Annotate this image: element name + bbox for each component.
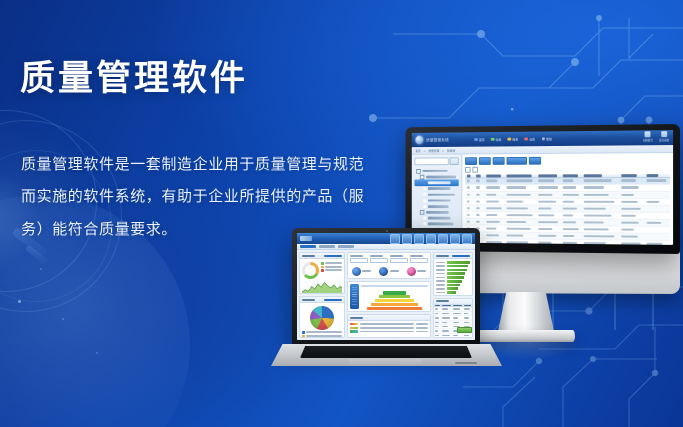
quality-level-card	[347, 281, 431, 312]
breadcrumb-separator: >	[423, 148, 425, 152]
table-cell	[505, 207, 537, 209]
toolbar-button[interactable]	[479, 157, 491, 165]
filter-input[interactable]	[350, 258, 368, 263]
kpi-label	[362, 270, 371, 272]
table-toolbar[interactable]	[465, 156, 670, 165]
promo-banner: 质量管理软件 质量管理软件是一套制造企业用于质量管理与规范而实施的软件系统，有助…	[0, 0, 683, 427]
bar-row	[436, 295, 470, 296]
table-cell	[485, 180, 505, 182]
table-cell	[619, 215, 644, 217]
card-title	[350, 317, 363, 319]
ranking-card	[433, 252, 473, 296]
column-header[interactable]	[582, 174, 619, 177]
search-icon[interactable]	[450, 157, 459, 165]
legend-swatch	[302, 331, 305, 334]
tree-item-label	[427, 205, 448, 208]
laptop-keyboard	[300, 346, 472, 358]
menu-icon	[542, 137, 545, 140]
bar-row	[436, 269, 470, 272]
legend-label	[306, 335, 343, 337]
area-chart-svg	[302, 280, 342, 294]
table-cell	[485, 228, 505, 230]
table-cell	[452, 322, 463, 324]
sidebar-search[interactable]	[414, 157, 458, 165]
checkbox[interactable]	[472, 167, 478, 173]
filter-row[interactable]	[348, 253, 430, 265]
table-cell	[463, 335, 472, 337]
app-header-bar: 质量管理系统 首页 检验 报表 设置 帮助 切换账号	[412, 130, 673, 147]
table-cell	[475, 207, 485, 209]
card-action[interactable]	[324, 299, 342, 301]
laptop-hinge-notch	[455, 362, 477, 364]
toolbar-button[interactable]	[493, 157, 505, 165]
kpi-checked[interactable]	[379, 267, 399, 276]
list-item-label	[360, 327, 414, 329]
filter-label	[350, 255, 363, 257]
kpi-icon	[352, 267, 361, 276]
dashboard-right-column	[433, 252, 473, 338]
quality-pyramid-chart	[361, 290, 428, 312]
breadcrumb-item[interactable]: 质量管理	[428, 148, 439, 152]
legend-item	[321, 269, 342, 272]
menu-label: 首页	[479, 137, 485, 142]
tree-item-label	[426, 211, 449, 214]
table-cell	[434, 326, 441, 328]
table-cell	[645, 201, 670, 203]
legend-swatch	[321, 262, 324, 265]
table-cell	[537, 193, 561, 195]
table-cell	[645, 186, 670, 188]
bar-row	[436, 280, 470, 283]
table-cell	[434, 335, 441, 337]
list-item[interactable]	[350, 323, 428, 325]
dashboard-logo-icon	[300, 236, 312, 241]
list-item[interactable]	[350, 327, 428, 329]
filter-input[interactable]	[390, 258, 408, 263]
legend-swatch	[321, 269, 324, 272]
main-content	[462, 153, 673, 245]
bar	[447, 276, 464, 279]
tree-expander-icon	[423, 193, 426, 196]
column-header	[442, 305, 451, 307]
table-cell	[537, 228, 561, 230]
bar-row	[436, 261, 470, 264]
breadcrumb-item: 检验单	[447, 148, 455, 152]
column-header[interactable]	[505, 174, 537, 177]
table-cell	[475, 221, 485, 223]
tree-item-label	[422, 170, 447, 173]
menu-icon	[508, 137, 511, 140]
menu-label: 帮助	[546, 136, 552, 141]
table-cell	[465, 180, 475, 182]
list-item-label	[360, 331, 414, 333]
menu-item[interactable]: 首页	[474, 137, 484, 142]
pyramid-column	[361, 284, 428, 309]
table-cell	[561, 193, 582, 195]
bar	[447, 295, 454, 296]
kpi-icon	[379, 267, 388, 276]
dashboard-left-column	[299, 252, 345, 338]
tree-item-label	[427, 217, 450, 220]
column-header[interactable]	[465, 175, 475, 177]
bar	[447, 291, 456, 294]
table-cell	[465, 207, 475, 209]
table-cell	[645, 208, 670, 210]
tree-expander-icon	[423, 205, 426, 208]
supplier-bar-chart	[434, 259, 472, 296]
list-item-value	[416, 331, 428, 333]
bar-row	[436, 291, 470, 294]
legend-label	[325, 262, 343, 264]
table-cell	[505, 200, 537, 202]
table-cell	[475, 193, 485, 195]
card-title	[436, 255, 449, 257]
table-cell	[619, 236, 644, 239]
dashboard-toolbar[interactable]	[390, 234, 472, 244]
print-icon[interactable]	[438, 234, 448, 244]
table-cell	[537, 187, 561, 189]
laptop-screen	[297, 233, 475, 340]
dashboard-middle-column	[347, 252, 431, 338]
app-header-actions[interactable]: 切换账号 退出系统	[643, 131, 669, 142]
table-cell	[485, 187, 505, 189]
decor-dot	[62, 318, 64, 320]
column-header[interactable]	[485, 174, 505, 176]
table-cell	[465, 214, 475, 216]
tree-item-label	[427, 187, 450, 189]
table-cell	[537, 235, 561, 237]
logout-label: 退出系统	[659, 138, 669, 142]
table-cell	[645, 222, 670, 224]
decor-dot	[18, 300, 21, 303]
bar	[447, 280, 462, 283]
table-cell	[619, 179, 644, 181]
tab-quality-board[interactable]	[319, 245, 335, 248]
pyramid-step	[383, 291, 406, 294]
decor-dot	[40, 268, 42, 270]
table-cell	[465, 193, 475, 195]
kpi-label	[417, 270, 426, 272]
filter-field[interactable]	[370, 255, 388, 263]
legend-label	[325, 266, 343, 268]
table-cell	[441, 330, 452, 332]
table-cell	[537, 200, 561, 202]
legend-item	[321, 266, 342, 269]
table-cell	[561, 187, 582, 189]
bar-label	[436, 269, 445, 271]
defect-pie-chart	[310, 306, 334, 330]
dashboard-header	[297, 233, 475, 244]
table-cell	[645, 215, 670, 217]
table-cell	[582, 187, 619, 189]
decor-dot	[96, 352, 98, 354]
app-menu[interactable]: 首页 检验 报表 设置 帮助	[474, 136, 552, 142]
card-title	[302, 255, 315, 257]
filter-input[interactable]	[410, 258, 428, 263]
tree-expander-icon	[423, 223, 426, 226]
tree-expander-icon	[423, 199, 426, 202]
legend-swatch	[302, 335, 305, 338]
logout-button[interactable]: 退出系统	[659, 131, 669, 142]
export-icon[interactable]	[450, 234, 460, 244]
bar	[447, 269, 467, 272]
bar-row	[436, 284, 470, 287]
tree-expander-icon[interactable]: -	[416, 169, 420, 174]
table-cell	[561, 207, 582, 209]
filter-card	[347, 252, 431, 279]
table-cell	[441, 308, 452, 310]
card-body	[300, 303, 344, 337]
pyramid-step	[371, 303, 418, 306]
table-cell	[452, 308, 463, 310]
pyramid-subheader	[361, 285, 428, 287]
bar	[447, 265, 469, 268]
pie-card	[299, 296, 345, 338]
list-item-value	[416, 323, 428, 325]
column-header[interactable]	[619, 174, 644, 177]
table-cell	[452, 335, 463, 337]
menu-label: 检验	[496, 137, 502, 142]
tree-item-label	[427, 193, 455, 196]
filter-field[interactable]	[350, 255, 368, 263]
table-cell	[485, 234, 505, 236]
table-cell	[619, 187, 644, 189]
table-cell	[582, 200, 619, 202]
table-cell	[441, 313, 452, 315]
gauge-legend	[321, 262, 342, 272]
table-cell	[475, 214, 485, 216]
level-scale-bar	[350, 284, 359, 309]
laptop-device	[292, 228, 480, 346]
tree-item-label	[426, 176, 456, 179]
table-cell	[463, 313, 472, 315]
table-cell	[582, 193, 619, 195]
laptop-trackpad[interactable]	[349, 359, 421, 365]
list-item-label	[360, 323, 414, 325]
nav-tree[interactable]: --+	[414, 168, 458, 227]
menu-label: 报表	[512, 137, 518, 142]
table-cell	[645, 179, 670, 181]
kpi-label	[390, 270, 399, 272]
bar	[447, 287, 458, 290]
checkbox-row[interactable]	[465, 166, 670, 173]
filter-label	[390, 255, 403, 257]
filter-icon[interactable]	[426, 234, 436, 244]
bar	[447, 261, 471, 264]
table-cell	[465, 221, 475, 223]
tree-expander-icon	[423, 217, 426, 220]
table-cell	[463, 317, 472, 319]
alert-list[interactable]	[348, 321, 430, 337]
legend-item	[302, 335, 342, 338]
tree-expander-icon[interactable]: +	[420, 210, 424, 215]
bar-row	[436, 272, 470, 275]
tab-home[interactable]	[300, 245, 316, 248]
search-icon[interactable]	[402, 234, 412, 244]
table-cell	[463, 308, 472, 310]
table-cell	[463, 322, 472, 324]
card-title	[302, 299, 315, 301]
switch-user-button[interactable]: 切换账号	[643, 131, 653, 142]
bar-label	[436, 262, 445, 264]
table-cell	[561, 200, 582, 202]
filter-field[interactable]	[390, 255, 408, 263]
tree-expander-icon[interactable]: -	[420, 175, 424, 180]
card-action[interactable]	[324, 255, 342, 257]
bar-label	[436, 284, 445, 286]
pyramid-step	[367, 307, 422, 310]
home-icon[interactable]	[390, 234, 400, 244]
table-cell	[537, 214, 561, 216]
menu-item[interactable]: 设置	[525, 136, 535, 141]
table-cell	[434, 330, 441, 332]
bar	[447, 284, 460, 287]
search-input[interactable]	[414, 157, 448, 165]
bar-label	[436, 288, 445, 290]
column-header[interactable]	[561, 174, 582, 177]
filter-field[interactable]	[410, 255, 428, 263]
table-cell	[485, 221, 505, 223]
toolbar-button[interactable]	[507, 157, 527, 165]
menu-item[interactable]: 帮助	[542, 136, 552, 141]
table-cell	[645, 229, 670, 231]
monitor-stand-foot	[478, 330, 575, 342]
legend-label	[306, 331, 343, 333]
column-header[interactable]	[475, 175, 485, 177]
table-cell	[434, 308, 441, 310]
webcam-icon	[386, 230, 388, 232]
table-cell	[434, 313, 441, 315]
toolbar-button[interactable]	[465, 157, 477, 165]
table-cell	[505, 221, 537, 223]
table-cell	[619, 194, 644, 196]
tree-item-label	[427, 199, 450, 202]
table-cell	[441, 317, 452, 319]
app-logo-icon	[415, 136, 423, 145]
app-title: 质量管理系统	[426, 137, 449, 143]
data-table	[465, 174, 670, 242]
table-cell	[505, 180, 537, 182]
dashboard-window	[297, 233, 475, 340]
legend-swatch	[321, 266, 324, 269]
settings-icon[interactable]	[462, 234, 472, 244]
toolbar-button[interactable]	[529, 157, 541, 165]
chart-icon[interactable]	[414, 234, 424, 244]
table-cell	[582, 228, 619, 231]
kpi-icon	[407, 267, 416, 276]
tree-expander-icon	[423, 187, 426, 190]
legend-item	[321, 262, 342, 265]
filter-input[interactable]	[370, 258, 388, 263]
bar-label	[436, 273, 445, 275]
table-cell	[645, 243, 670, 245]
card-action[interactable]	[452, 255, 470, 257]
filter-label	[410, 255, 423, 257]
menu-icon	[491, 138, 494, 141]
menu-item[interactable]: 检验	[491, 137, 501, 142]
legend-item	[302, 331, 342, 334]
filter-label	[370, 255, 383, 257]
table-cell	[619, 229, 644, 231]
card-title	[436, 300, 449, 302]
table-cell	[582, 235, 619, 238]
table-cell	[561, 235, 582, 237]
table-cell	[582, 221, 619, 223]
table-cell	[645, 194, 670, 196]
checkbox[interactable]	[465, 167, 470, 173]
column-header[interactable]	[645, 174, 670, 177]
column-header	[435, 305, 440, 307]
table-cell	[561, 180, 582, 182]
menu-icon	[474, 138, 477, 141]
column-header	[453, 305, 462, 307]
list-item-value	[416, 327, 428, 329]
bar	[447, 272, 466, 275]
menu-icon	[525, 137, 528, 140]
tree-item[interactable]	[414, 221, 458, 227]
list-item[interactable]	[350, 330, 428, 332]
menu-item[interactable]: 报表	[508, 137, 518, 142]
pyramid-step	[375, 299, 414, 302]
table-body[interactable]	[465, 178, 670, 245]
table-cell	[475, 180, 485, 182]
table-cell	[537, 180, 561, 182]
bar-row	[436, 265, 470, 268]
table-row[interactable]	[434, 334, 472, 338]
severity-indicator	[350, 323, 358, 325]
table-cell	[475, 187, 485, 189]
severity-indicator	[350, 330, 358, 332]
table-cell	[505, 228, 537, 230]
table-cell	[582, 207, 619, 209]
kpi-row	[348, 265, 430, 278]
tab-analysis[interactable]	[338, 245, 354, 248]
table-cell	[645, 236, 670, 239]
table-cell	[561, 221, 582, 223]
table-cell	[475, 200, 485, 202]
table-cell	[537, 207, 561, 209]
bar-row	[436, 287, 470, 290]
table-cell	[434, 317, 441, 319]
card-body	[300, 259, 344, 293]
bar-label	[436, 265, 445, 267]
breadcrumb-item[interactable]: 首页	[415, 149, 420, 153]
menu-label: 设置	[529, 136, 535, 141]
table-body[interactable]	[434, 307, 472, 338]
switch-user-icon	[645, 131, 651, 137]
bar-row	[436, 276, 470, 279]
column-header	[464, 305, 471, 307]
tree-expander-icon	[423, 181, 426, 184]
kpi-pending[interactable]	[352, 267, 372, 276]
pyramid-wrap	[348, 282, 430, 311]
table-cell	[441, 326, 452, 328]
logout-icon	[661, 131, 667, 137]
table-cell	[465, 187, 475, 189]
column-header[interactable]	[537, 174, 561, 177]
kpi-abnormal[interactable]	[407, 267, 427, 276]
table-cell	[619, 201, 644, 203]
bar-label	[436, 277, 445, 279]
table-cell	[485, 200, 505, 202]
pyramid-step	[363, 311, 426, 312]
table-cell	[582, 179, 619, 181]
table-cell	[561, 214, 582, 216]
table-cell	[619, 222, 644, 224]
severity-indicator	[350, 327, 358, 329]
table-cell	[465, 200, 475, 202]
table-cell	[561, 228, 582, 230]
